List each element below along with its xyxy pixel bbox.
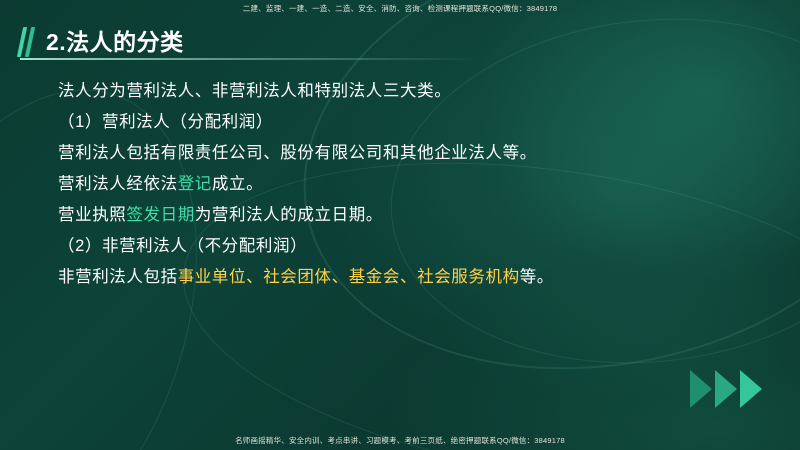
body-paragraph-5: 营业执照签发日期为营利法人的成立日期。 — [58, 200, 678, 231]
body-paragraph-7: 非营利法人包括事业单位、社会团体、基金会、社会服务机构等。 — [58, 262, 678, 293]
top-banner: 二建、监理、一建、一造、二造、安全、消防、咨询、检测课程押题联系QQ/微信：38… — [0, 0, 800, 16]
body-paragraph-3: 营利法人包括有限责任公司、股份有限公司和其他企业法人等。 — [58, 138, 678, 169]
page-title: 2.法人的分类 — [46, 31, 184, 54]
footer-text: 名师画摇精华、安全内训、考点串讲、习题模考、考前三页纸、绝密押题联系QQ/微信：… — [235, 435, 565, 446]
body-paragraph-4: 营利法人经依法登记成立。 — [58, 169, 678, 200]
body-paragraph-6: （2）非营利法人（不分配利润） — [58, 231, 678, 262]
body-paragraph-2: （1）营利法人（分配利润） — [58, 107, 678, 138]
top-banner-text: 二建、监理、一建、一造、二造、安全、消防、咨询、检测课程押题联系QQ/微信：38… — [243, 3, 557, 14]
slide-canvas: 二建、监理、一建、一造、二造、安全、消防、咨询、检测课程押题联系QQ/微信：38… — [0, 0, 800, 450]
title-accent-bars-icon — [20, 27, 36, 57]
slide-title-row: 2.法人的分类 — [0, 22, 800, 62]
decorative-arrows-icon — [687, 370, 762, 408]
title-underline — [20, 58, 480, 60]
footer-banner: 名师画摇精华、安全内训、考点串讲、习题模考、考前三页纸、绝密押题联系QQ/微信：… — [0, 435, 800, 446]
body-paragraph-1: 法人分为营利法人、非营利法人和特别法人三大类。 — [58, 76, 678, 107]
slide-body: 法人分为营利法人、非营利法人和特别法人三大类。 （1）营利法人（分配利润） 营利… — [58, 76, 678, 293]
